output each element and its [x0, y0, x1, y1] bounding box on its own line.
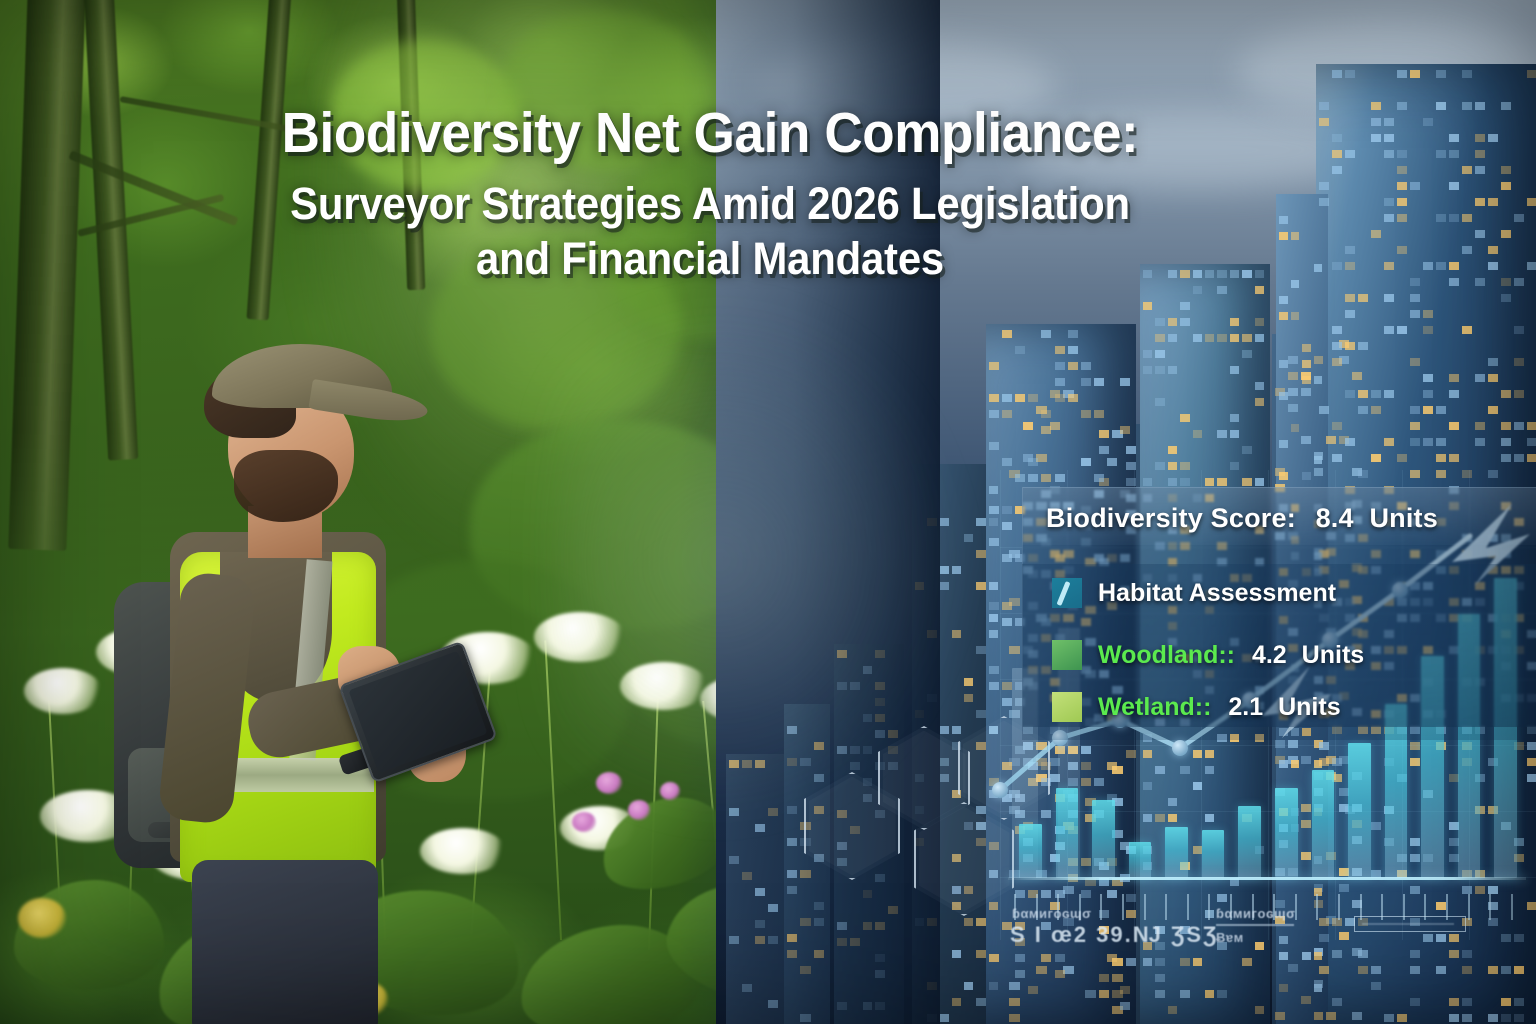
- pink-wildflower: [572, 812, 596, 832]
- trousers: [192, 860, 378, 1024]
- facade-signage-text: ɓαмигοɢɰσ: [1012, 906, 1091, 921]
- cloud: [756, 40, 1056, 130]
- facade-signage-rule: [1216, 924, 1294, 926]
- score-value: 8.4: [1316, 503, 1354, 533]
- legend-row-wetland[interactable]: Wetland:: 2.1 Units: [1052, 692, 1341, 722]
- foliage-blob: [500, 10, 710, 170]
- legend-entry-woodland: Woodland:: 4.2 Units: [1098, 641, 1364, 670]
- pink-wildflower: [596, 772, 622, 794]
- biodiversity-score-line: Biodiversity Score: 8.4 Units: [1046, 503, 1438, 534]
- score-label: Biodiversity Score:: [1046, 503, 1296, 533]
- legend-value-wetland: 2.1: [1228, 693, 1263, 721]
- wetland-swatch-icon: [1052, 692, 1082, 722]
- pink-wildflower: [660, 782, 680, 800]
- legend-label-wetland: Wetland::: [1098, 693, 1211, 721]
- skyscraper-far: [726, 754, 784, 1024]
- score-unit: Units: [1369, 503, 1438, 533]
- woodland-swatch-icon: [1052, 640, 1082, 670]
- legend-unit-woodland: Units: [1302, 641, 1365, 669]
- facade-signage-numbers: S Ɩ œ2 39.Ǌ ƷSƷ: [1010, 922, 1219, 948]
- cow-parsley-flower: [534, 612, 626, 662]
- cow-parsley-flower: [620, 662, 708, 710]
- legend-row-woodland[interactable]: Woodland:: 4.2 Units: [1052, 640, 1364, 670]
- legend-entry-wetland: Wetland:: 2.1 Units: [1098, 693, 1341, 722]
- surveyor-figure: [52, 330, 472, 1024]
- habitat-swatch-icon: [1052, 578, 1082, 608]
- pink-wildflower: [628, 800, 650, 820]
- legend-unit-wetland: Units: [1278, 693, 1341, 721]
- legend-value-woodland: 4.2: [1252, 641, 1287, 669]
- foliage-blob: [330, 40, 520, 190]
- facade-signage-rule-2: [1362, 923, 1454, 925]
- legend-label-habitat: Habitat Assessment: [1098, 579, 1336, 608]
- legend-row-habitat[interactable]: Habitat Assessment: [1052, 578, 1336, 608]
- hero-banner: ɓαмигοɢɰσ S Ɩ œ2 39.Ǌ ƷSƷ ɓαмигοɢɰσ Ƀɐм …: [0, 0, 1536, 1024]
- facade-signage-text-3: Ƀɐм: [1216, 930, 1244, 945]
- facade-signage-text-2: ɓαмигοɢɰσ: [1216, 906, 1295, 921]
- forest-background: [0, 0, 830, 1024]
- legend-label-woodland: Woodland::: [1098, 641, 1235, 669]
